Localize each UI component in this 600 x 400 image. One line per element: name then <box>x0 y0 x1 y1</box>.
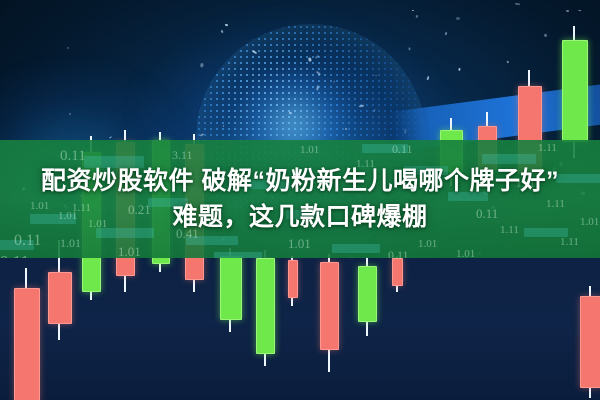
band-number: 0.11 <box>476 206 498 222</box>
band-bar <box>332 244 380 253</box>
band-number: 0.11 <box>388 248 409 258</box>
band-number: 1.11 <box>500 224 519 236</box>
candle-body <box>562 40 588 142</box>
band-bar <box>84 156 144 168</box>
candlestick-bull <box>256 250 273 366</box>
band-number: 1.11 <box>356 158 375 170</box>
green-overlay-band: 0.111.011.010.110.111.011.111.010.211.01… <box>0 140 600 258</box>
particle <box>578 9 581 10</box>
band-number: 1.01 <box>30 200 49 212</box>
candle-body <box>358 266 377 322</box>
band-bar <box>404 166 448 175</box>
band-number: 1.11 <box>546 198 565 210</box>
band-number: 0.11 <box>14 232 41 250</box>
band-number: 0.11 <box>392 142 413 157</box>
band-bar <box>286 210 322 219</box>
candlestick-bear <box>288 256 296 306</box>
band-bar <box>482 154 536 164</box>
band-bar <box>214 252 262 258</box>
candle-body <box>320 262 339 350</box>
particle <box>408 47 410 50</box>
band-number: 0.21 <box>128 202 151 218</box>
candlestick-bear <box>320 254 337 372</box>
band-number: 1.01 <box>60 236 81 251</box>
band-number: 1.01 <box>300 144 319 156</box>
band-bar <box>246 180 290 189</box>
band-number: 1.11 <box>560 236 579 248</box>
candlestick-bull <box>562 26 586 158</box>
band-number: 0.11 <box>60 148 86 165</box>
candle-body <box>256 258 275 354</box>
candle-body <box>580 296 600 388</box>
candle-body <box>14 288 40 400</box>
particle <box>200 64 203 68</box>
band-number: 1.11 <box>538 142 557 154</box>
band-bar <box>556 174 600 183</box>
band-bar <box>148 198 188 207</box>
candlestick-bull <box>220 248 240 332</box>
candle-body <box>392 258 403 286</box>
band-number: 1.01 <box>418 238 437 250</box>
band-number: 1.01 <box>456 248 475 258</box>
band-number: 3.11 <box>172 148 193 163</box>
band-bar <box>448 192 488 201</box>
candlestick-bull <box>358 258 375 336</box>
candle-body <box>220 256 242 320</box>
band-number: 0.11 <box>0 252 29 258</box>
candlestick-bear <box>14 268 38 400</box>
candle-body <box>48 272 72 324</box>
band-number: 1.01 <box>288 236 311 252</box>
band-number: 1.11 <box>72 202 91 214</box>
band-number: 1.11 <box>516 178 535 190</box>
candle-body <box>288 260 298 298</box>
stock-news-banner: 0.111.011.010.110.111.011.111.010.211.01… <box>0 0 600 400</box>
band-number: 0.41 <box>176 226 199 242</box>
candlestick-bear <box>392 256 401 292</box>
band-number: 1.01 <box>88 218 107 230</box>
band-number: 1.01 <box>118 244 141 258</box>
candlestick-bear <box>580 286 600 398</box>
band-number: 1.01 <box>580 216 599 228</box>
